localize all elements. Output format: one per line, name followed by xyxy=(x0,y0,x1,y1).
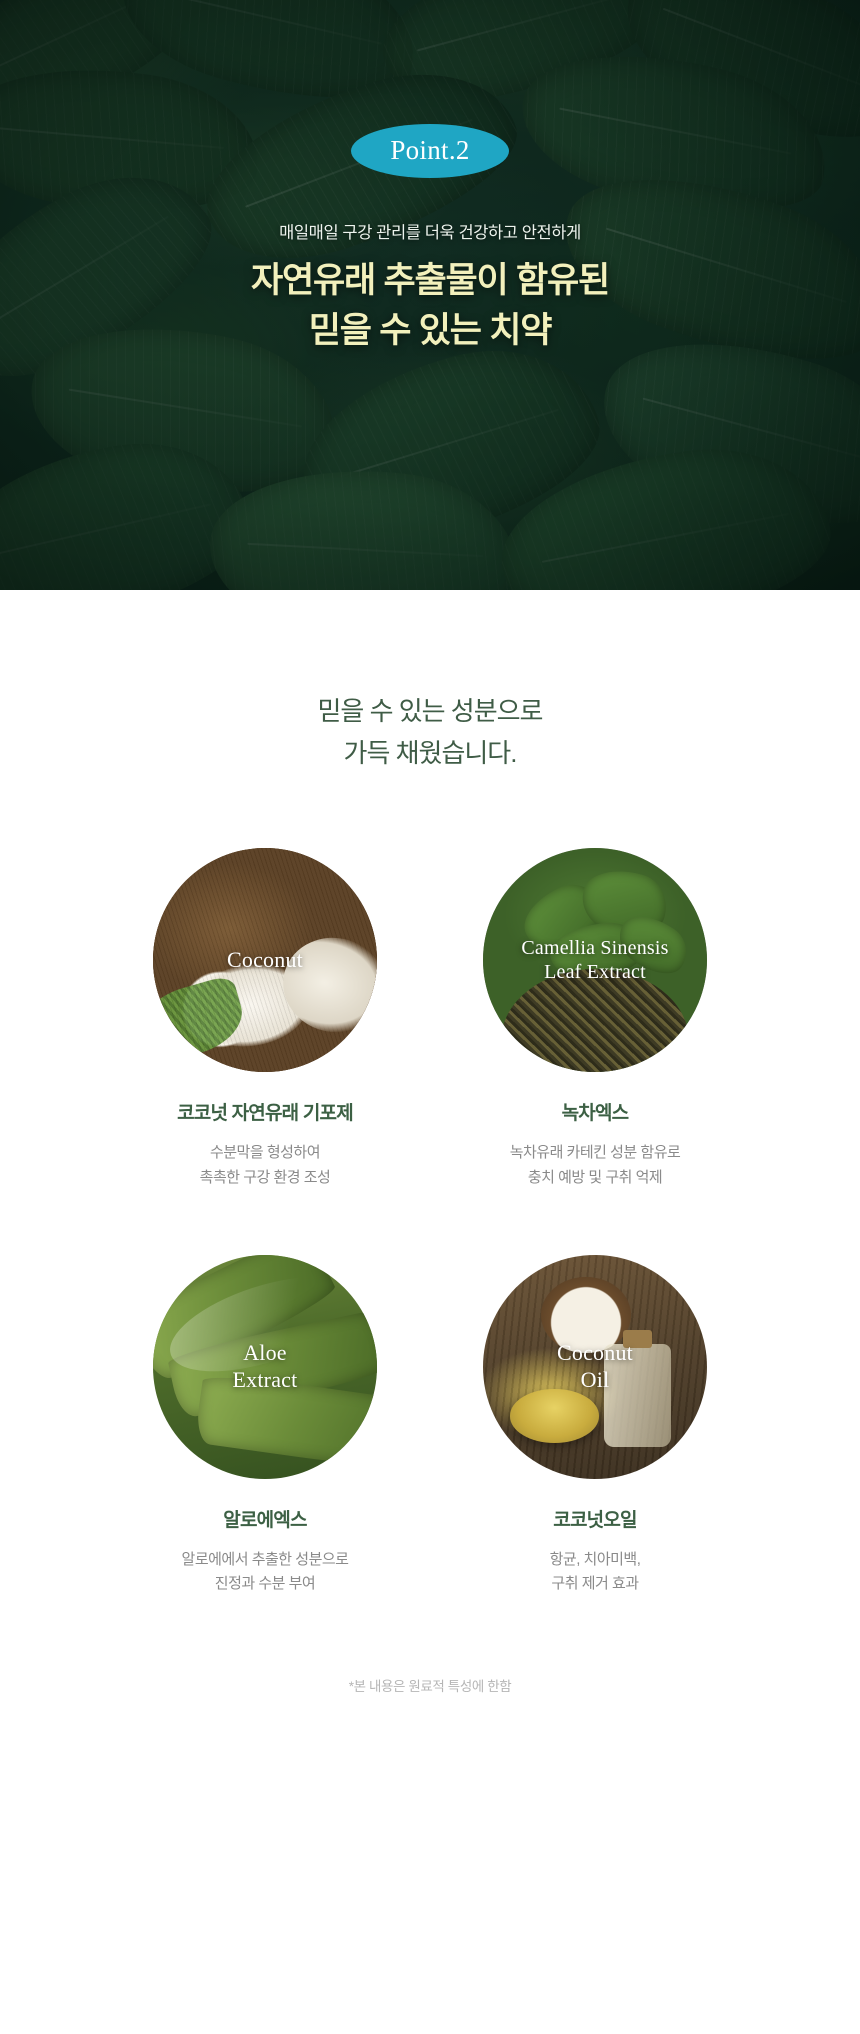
ingredient-description: 항균, 치아미백, 구취 제거 효과 xyxy=(430,1548,760,1598)
overlay-line-2: Extract xyxy=(233,1367,298,1394)
ingredient-overlay-text: Aloe Extract xyxy=(233,1340,298,1394)
overlay-line-1: Coconut xyxy=(227,947,303,974)
desc-line-2: 촉촉한 구강 환경 조성 xyxy=(100,1166,430,1191)
desc-line-2: 충치 예방 및 구취 억제 xyxy=(430,1166,760,1191)
overlay-line-2: Oil xyxy=(557,1367,633,1394)
ingredient-card: Coconut 코코넛 자연유래 기포제 수분막을 형성하여 촉촉한 구강 환경… xyxy=(100,848,430,1191)
ingredient-overlay-text: Coconut Oil xyxy=(557,1340,633,1394)
desc-line-1: 녹차유래 카테킨 성분 함유로 xyxy=(430,1141,760,1166)
ingredient-image-coconut: Coconut xyxy=(153,848,377,1072)
ingredient-image-green-tea: Camellia Sinensis Leaf Extract xyxy=(483,848,707,1072)
hero-title-line1: 자연유래 추출물이 함유된 xyxy=(0,256,860,306)
hero-title-line2: 믿을 수 있는 치약 xyxy=(0,306,860,356)
section-title-line2: 가득 채웠습니다. xyxy=(0,732,860,774)
ingredient-card: Aloe Extract 알로에엑스 알로에에서 추출한 성분으로 진정과 수분… xyxy=(100,1255,430,1598)
ingredient-card: Coconut Oil 코코넛오일 항균, 치아미백, 구취 제거 효과 xyxy=(430,1255,760,1598)
desc-line-1: 알로에에서 추출한 성분으로 xyxy=(100,1548,430,1573)
ingredient-image-coconut-oil: Coconut Oil xyxy=(483,1255,707,1479)
section-title: 믿을 수 있는 성분으로 가득 채웠습니다. xyxy=(0,690,860,774)
ingredient-title: 코코넛 자연유래 기포제 xyxy=(100,1098,430,1125)
ingredient-overlay-text: Coconut xyxy=(227,947,303,974)
footnote: *본 내용은 원료적 특성에 한함 xyxy=(0,1675,860,1695)
ingredient-description: 알로에에서 추출한 성분으로 진정과 수분 부여 xyxy=(100,1548,430,1598)
point-badge-label: Point.2 xyxy=(390,137,469,166)
ingredient-overlay-text: Camellia Sinensis Leaf Extract xyxy=(521,936,668,985)
ingredient-title: 코코넛오일 xyxy=(430,1505,760,1532)
section-title-line1: 믿을 수 있는 성분으로 xyxy=(0,690,860,732)
ingredient-card: Camellia Sinensis Leaf Extract 녹차엑스 녹차유래… xyxy=(430,848,760,1191)
ingredient-title: 녹차엑스 xyxy=(430,1098,760,1125)
ingredient-image-aloe: Aloe Extract xyxy=(153,1255,377,1479)
ingredient-title: 알로에엑스 xyxy=(100,1505,430,1532)
hero-banner: Point.2 매일매일 구강 관리를 더욱 건강하고 안전하게 자연유래 추출… xyxy=(0,0,860,590)
overlay-line-1: Camellia Sinensis xyxy=(521,936,668,960)
desc-line-2: 진정과 수분 부여 xyxy=(100,1572,430,1597)
desc-line-1: 항균, 치아미백, xyxy=(430,1548,760,1573)
overlay-line-1: Coconut xyxy=(557,1340,633,1367)
desc-line-1: 수분막을 형성하여 xyxy=(100,1141,430,1166)
product-detail-page: Point.2 매일매일 구강 관리를 더욱 건강하고 안전하게 자연유래 추출… xyxy=(0,0,860,2034)
desc-line-2: 구취 제거 효과 xyxy=(430,1572,760,1597)
hero-subtitle: 매일매일 구강 관리를 더욱 건강하고 안전하게 xyxy=(0,219,860,243)
point-badge: Point.2 xyxy=(351,124,509,178)
overlay-line-1: Aloe xyxy=(233,1340,298,1367)
ingredients-section: 믿을 수 있는 성분으로 가득 채웠습니다. Coconut 코코넛 자연유래 … xyxy=(0,690,860,1695)
hero-title: 자연유래 추출물이 함유된 믿을 수 있는 치약 xyxy=(0,256,860,355)
overlay-line-2: Leaf Extract xyxy=(521,960,668,984)
ingredient-description: 녹차유래 카테킨 성분 함유로 충치 예방 및 구취 억제 xyxy=(430,1141,760,1191)
ingredient-grid: Coconut 코코넛 자연유래 기포제 수분막을 형성하여 촉촉한 구강 환경… xyxy=(100,848,760,1597)
ingredient-description: 수분막을 형성하여 촉촉한 구강 환경 조성 xyxy=(100,1141,430,1191)
